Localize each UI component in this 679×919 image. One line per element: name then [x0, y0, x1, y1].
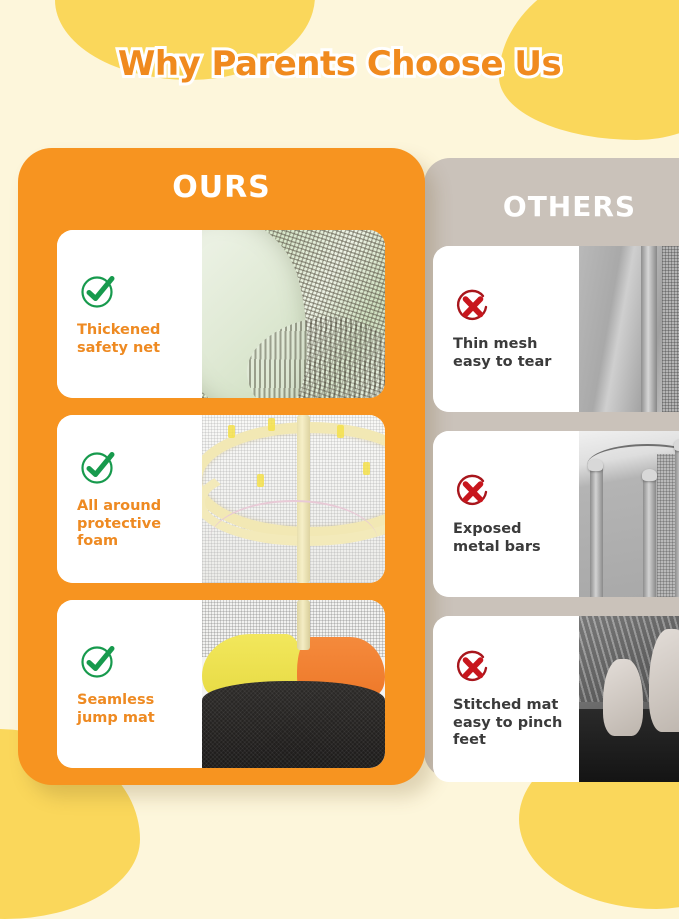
- foam-pole: [297, 600, 310, 650]
- foam-strap: [228, 425, 235, 438]
- comparison-panels: OTHERS Thin mesh easy to tear: [0, 148, 679, 788]
- ours-card-label: All around protective foam: [77, 498, 202, 552]
- padded-foam-poles-photo: [202, 415, 385, 583]
- bar-cap: [588, 459, 603, 471]
- ours-card-protective-foam: All around protective foam: [57, 415, 385, 583]
- others-card-stitched-mat: Stitched mat easy to pinch feet: [433, 616, 679, 782]
- thin-gray-mesh-photo: [579, 246, 679, 412]
- metal-bar: [590, 468, 603, 597]
- ours-heading: OURS: [18, 148, 425, 205]
- others-card-thin-mesh: Thin mesh easy to tear: [433, 246, 679, 412]
- mat-edge: [209, 500, 377, 583]
- others-card-label: Exposed metal bars: [453, 521, 579, 557]
- others-card-label: Stitched mat easy to pinch feet: [453, 697, 579, 751]
- cross-circle-icon: [453, 648, 579, 688]
- foam-strap: [363, 462, 370, 475]
- ours-card-text: Seamless jump mat: [57, 600, 202, 768]
- page-title: Why Parents Choose Us: [0, 44, 679, 84]
- others-panel: OTHERS Thin mesh easy to tear: [424, 158, 679, 778]
- exposed-metal-frame-photo: [579, 431, 679, 597]
- foam-strap: [257, 474, 264, 487]
- foam-strap: [337, 425, 344, 438]
- black-jump-surface: [202, 681, 385, 768]
- others-card-text: Stitched mat easy to pinch feet: [433, 616, 579, 782]
- bar-cap: [642, 469, 657, 481]
- others-card-label: Thin mesh easy to tear: [453, 336, 579, 372]
- ours-card-text: All around protective foam: [57, 415, 202, 583]
- foam-strap: [268, 418, 275, 431]
- metal-bar: [675, 448, 679, 597]
- others-heading: OTHERS: [424, 158, 679, 223]
- check-circle-icon: [77, 271, 202, 313]
- cross-circle-icon: [453, 287, 579, 327]
- ours-card-label: Seamless jump mat: [77, 692, 202, 728]
- foot: [603, 659, 643, 735]
- others-card-metal-bars: Exposed metal bars: [433, 431, 679, 597]
- green-safety-net-photo: [202, 230, 385, 398]
- yellow-orange-jump-mat-photo: [202, 600, 385, 768]
- others-card-text: Thin mesh easy to tear: [433, 246, 579, 412]
- check-circle-icon: [77, 447, 202, 489]
- check-circle-icon: [77, 641, 202, 683]
- others-card-text: Exposed metal bars: [433, 431, 579, 597]
- ours-panel: OURS Thickened safety net: [18, 148, 425, 785]
- metal-bar: [643, 477, 656, 597]
- bar-cap: [674, 439, 679, 451]
- ours-card-label: Thickened safety net: [77, 322, 202, 358]
- bare-feet-on-stitched-mat-photo: [579, 616, 679, 782]
- cross-circle-icon: [453, 472, 579, 512]
- ours-card-jump-mat: Seamless jump mat: [57, 600, 385, 768]
- ours-card-safety-net: Thickened safety net: [57, 230, 385, 398]
- ours-card-text: Thickened safety net: [57, 230, 202, 398]
